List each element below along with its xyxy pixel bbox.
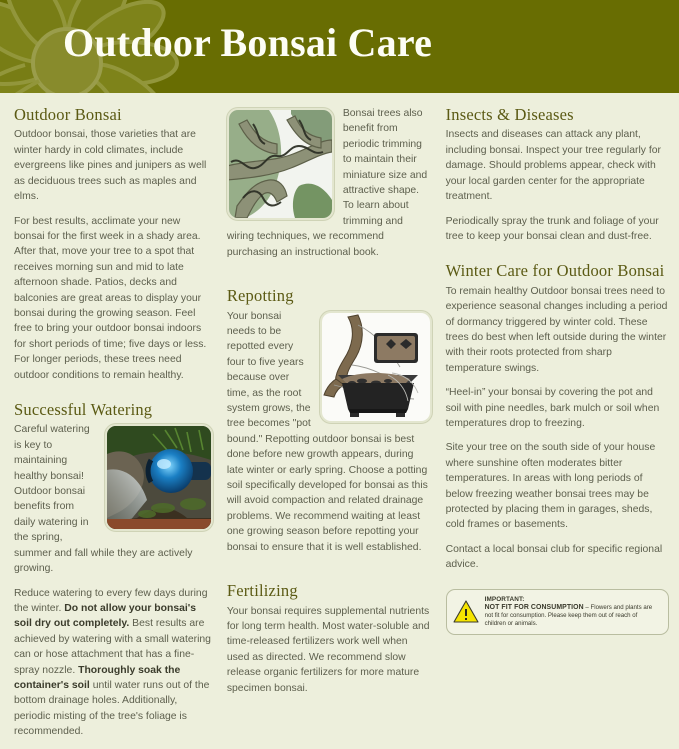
paragraph-winter-3: Site your tree on the south side of your… bbox=[446, 440, 669, 532]
section-heading-repotting: Repotting bbox=[227, 287, 432, 305]
trimming-block: Bonsai trees also benefit from periodic … bbox=[227, 106, 432, 269]
paragraph-fertilizing: Your bonsai requires supplemental nutrie… bbox=[227, 604, 432, 696]
watering-nozzle-spraying-bonsai-photo bbox=[107, 426, 211, 529]
important-warning-box: IMPORTANT:NOT FIT FOR CONSUMPTION – Flow… bbox=[446, 589, 669, 635]
paragraph-winter-4: Contact a local bonsai club for specific… bbox=[446, 542, 669, 573]
column-right: Insects & Diseases Insects and diseases … bbox=[446, 106, 669, 679]
section-heading-insects-diseases: Insects & Diseases bbox=[446, 106, 669, 124]
warning-dash: – bbox=[584, 604, 591, 611]
section-heading-winter-care: Winter Care for Outdoor Bonsai bbox=[446, 262, 669, 280]
paragraph-winter-2: “Heel-in” your bonsai by covering the po… bbox=[446, 385, 669, 431]
section-heading-successful-watering: Successful Watering bbox=[14, 401, 213, 419]
page-title: Outdoor Bonsai Care bbox=[63, 19, 432, 66]
watering-photo bbox=[105, 424, 213, 531]
column-middle: Bonsai trees also benefit from periodic … bbox=[227, 106, 446, 679]
watering-text-wrap: Careful watering is key to maintaining h… bbox=[14, 422, 213, 748]
wired-bonsai-branch-photo bbox=[229, 110, 332, 218]
warning-title: NOT FIT FOR CONSUMPTION bbox=[485, 604, 584, 611]
paragraph-insects-1: Insects and diseases can attack any plan… bbox=[446, 127, 669, 204]
warning-text: IMPORTANT:NOT FIT FOR CONSUMPTION – Flow… bbox=[485, 596, 660, 628]
paragraph-insects-2: Periodically spray the trunk and foliage… bbox=[446, 214, 669, 245]
paragraph-outdoor-bonsai-2: For best results, acclimate your new bon… bbox=[14, 214, 213, 383]
paragraph-successful-watering-main: Reduce watering to every few days during… bbox=[14, 586, 213, 740]
warning-label: IMPORTANT: bbox=[485, 596, 660, 604]
paragraph-winter-1: To remain healthy Outdoor bonsai trees n… bbox=[446, 284, 669, 376]
repotting-photo bbox=[320, 311, 432, 423]
bonsai-pot-repotting-photo bbox=[322, 313, 430, 421]
repotting-block: Your bonsai needs to be repotted every f… bbox=[227, 309, 432, 565]
section-heading-outdoor-bonsai: Outdoor Bonsai bbox=[14, 106, 213, 124]
warning-triangle-icon bbox=[453, 600, 479, 623]
column-left: Outdoor Bonsai Outdoor bonsai, those var… bbox=[14, 106, 227, 679]
poster-root: Outdoor Bonsai Care Outdoor Bonsai Outdo… bbox=[0, 0, 679, 679]
paragraph-outdoor-bonsai-1: Outdoor bonsai, those varieties that are… bbox=[14, 127, 213, 204]
page-header: Outdoor Bonsai Care bbox=[0, 0, 679, 93]
section-heading-fertilizing: Fertilizing bbox=[227, 582, 432, 600]
wiring-photo bbox=[227, 108, 334, 220]
content-columns: Outdoor Bonsai Outdoor bonsai, those var… bbox=[0, 93, 679, 679]
